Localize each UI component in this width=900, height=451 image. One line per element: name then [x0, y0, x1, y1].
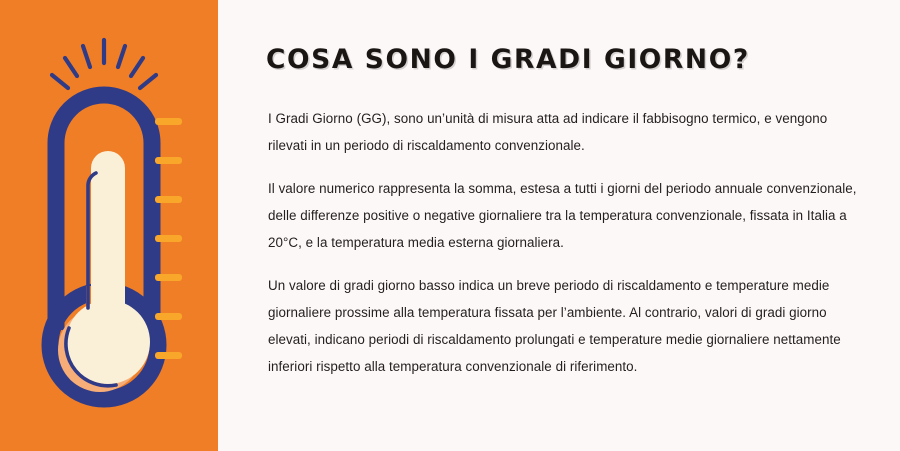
paragraph: I Gradi Giorno (GG), sono un’unità di mi… — [268, 105, 868, 159]
body-copy: I Gradi Giorno (GG), sono un’unità di mi… — [268, 105, 868, 380]
graduation-tick — [155, 274, 182, 281]
graduation-tick — [155, 157, 182, 164]
heat-ray — [118, 46, 125, 67]
graduation-tick — [155, 352, 182, 359]
slide-root: COSA SONO I GRADI GIORNO? I Gradi Giorno… — [0, 0, 900, 451]
heat-ray — [131, 58, 143, 76]
graduation-tick — [155, 313, 182, 320]
heat-ray — [140, 75, 156, 88]
heat-ray — [65, 58, 77, 76]
page-title: COSA SONO I GRADI GIORNO? — [266, 44, 750, 75]
left-illustration-panel — [0, 0, 218, 451]
graduation-tick — [155, 235, 182, 242]
graduation-tick — [155, 196, 182, 203]
thermometer-illustration — [0, 0, 218, 451]
graduation-tick — [155, 118, 182, 125]
paragraph: Il valore numerico rappresenta la somma,… — [268, 175, 868, 256]
content-panel: COSA SONO I GRADI GIORNO? I Gradi Giorno… — [218, 0, 900, 451]
heat-ray — [83, 46, 90, 67]
mercury-column — [91, 151, 125, 330]
paragraph: Un valore di gradi giorno basso indica u… — [268, 272, 868, 380]
heat-rays-icon — [52, 40, 156, 88]
heat-ray — [52, 75, 68, 88]
